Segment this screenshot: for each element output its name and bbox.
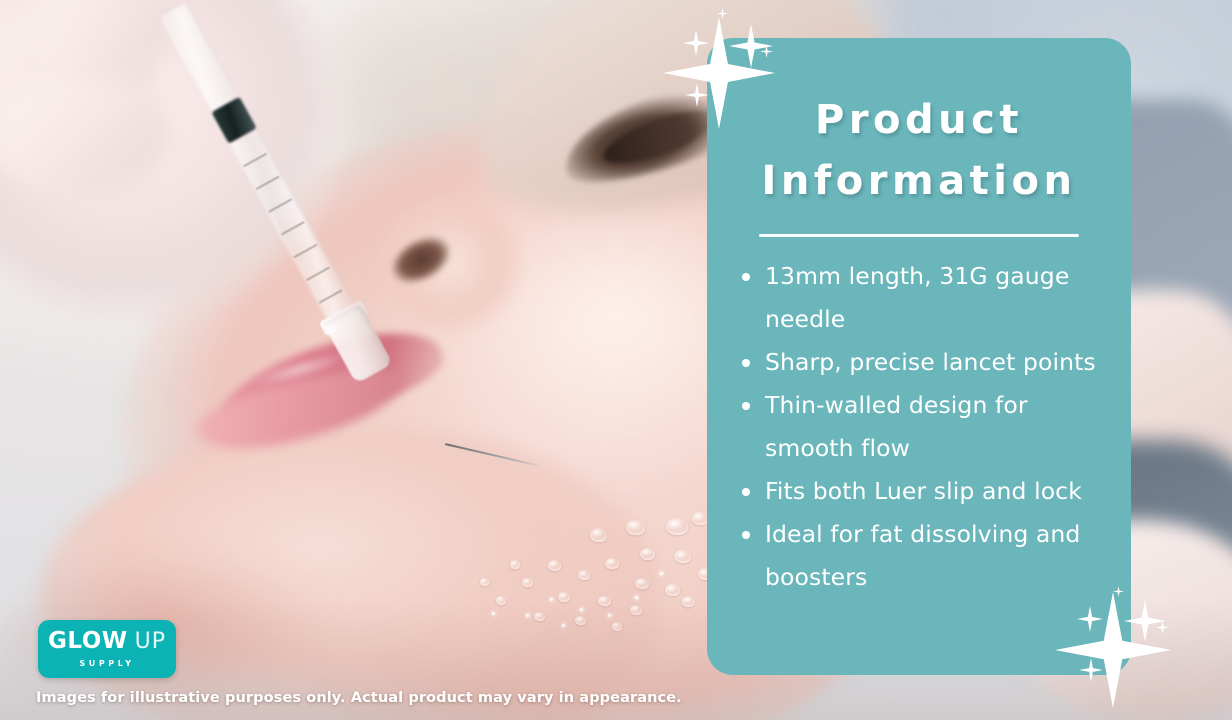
water-droplet bbox=[605, 558, 619, 569]
logo-word-up: UP bbox=[135, 631, 166, 653]
water-droplet bbox=[635, 578, 649, 589]
logo-wordmark: GLOW UP bbox=[48, 630, 166, 653]
logo-word-glow: GLOW bbox=[48, 630, 128, 653]
water-droplet bbox=[674, 550, 691, 563]
water-droplet bbox=[480, 578, 489, 586]
feature-bullet-item: 13mm length, 31G gauge needle bbox=[740, 255, 1101, 341]
logo-tagline: SUPPLY bbox=[79, 659, 134, 668]
water-droplet bbox=[578, 570, 590, 580]
water-droplet bbox=[666, 518, 688, 535]
feature-bullet-item: Sharp, precise lancet points bbox=[740, 341, 1101, 384]
panel-title-line-2: Information bbox=[707, 151, 1131, 212]
water-droplet bbox=[590, 528, 607, 542]
water-droplet bbox=[548, 560, 561, 571]
water-droplet bbox=[626, 520, 645, 535]
disclaimer-text: Images for illustrative purposes only. A… bbox=[36, 690, 682, 706]
panel-title: Product Information bbox=[707, 38, 1131, 212]
title-divider bbox=[759, 234, 1079, 237]
panel-title-line-1: Product bbox=[815, 97, 1023, 143]
droplet-glint bbox=[660, 572, 663, 575]
promo-graphic: Product Information 13mm length, 31G gau… bbox=[0, 0, 1232, 720]
water-droplet bbox=[692, 512, 708, 525]
feature-bullet-list: 13mm length, 31G gauge needleSharp, prec… bbox=[707, 255, 1131, 599]
brand-logo-badge[interactable]: GLOW UP SUPPLY bbox=[38, 620, 176, 678]
feature-bullet-item: Thin-walled design for smooth flow bbox=[740, 384, 1101, 470]
droplet-glint bbox=[635, 596, 638, 599]
water-droplet bbox=[665, 584, 680, 596]
feature-bullet-item: Fits both Luer slip and lock bbox=[740, 470, 1101, 513]
water-droplet bbox=[510, 560, 520, 569]
water-droplet bbox=[640, 548, 655, 560]
product-information-panel: Product Information 13mm length, 31G gau… bbox=[707, 38, 1131, 675]
water-droplet bbox=[522, 578, 533, 587]
feature-bullet-item: Ideal for fat dissolving and boosters bbox=[740, 513, 1101, 599]
